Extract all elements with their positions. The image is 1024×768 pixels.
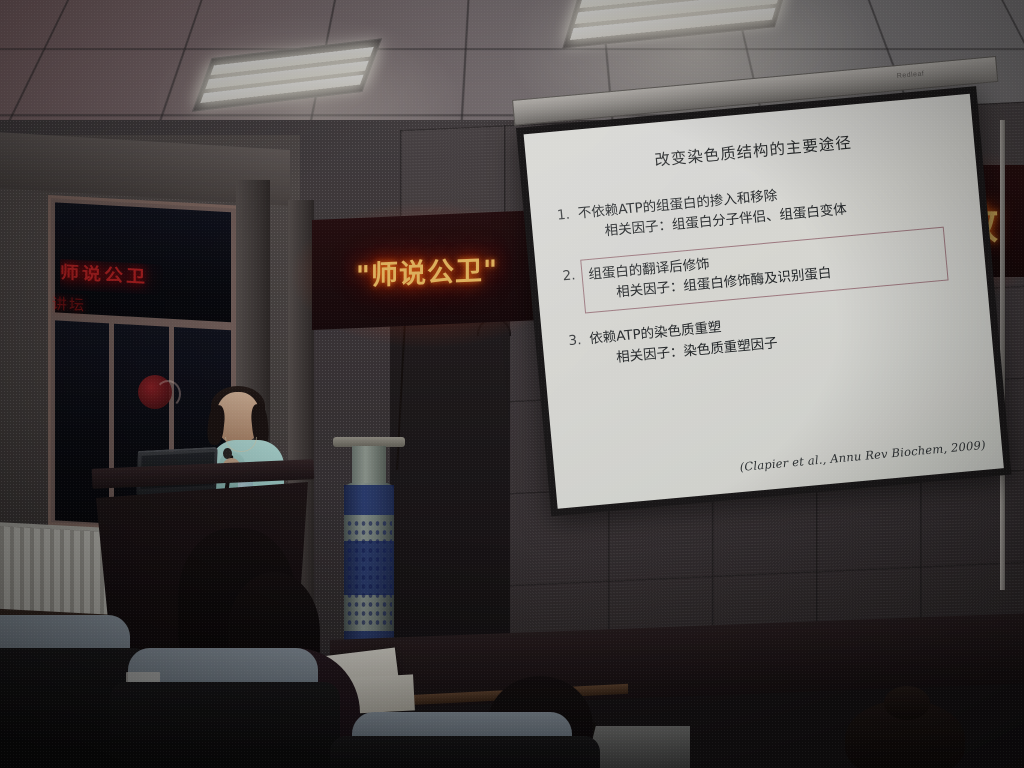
slide-item-2-number: 2.: [561, 260, 576, 284]
vase-neck: [352, 446, 386, 486]
slide-item-1-number: 1.: [556, 205, 571, 226]
radiator: [0, 522, 110, 624]
note-paper: [351, 674, 415, 713]
porcelain-vase: [343, 437, 395, 652]
auditorium-seat-back[interactable]: [330, 736, 600, 768]
lecture-hall-photo: 师说公卫 讲坛 "师说公卫" 教 Redleaf 改变染色质结构的主要途径 1.…: [0, 0, 1024, 768]
slide-citation: (Clapier et al., Annu Rev Biochem, 2009): [739, 438, 986, 474]
led-sign-left: "师说公卫": [312, 210, 542, 330]
auditorium-seat-back[interactable]: [110, 682, 340, 768]
projector-brand-label: Redleaf: [896, 71, 924, 80]
slide-title: 改变染色质结构的主要途径: [552, 121, 954, 179]
vertical-pole: [1000, 120, 1005, 590]
led-sign-left-text: "师说公卫": [356, 247, 498, 292]
window-pane: [55, 320, 109, 523]
vase-body: [344, 483, 394, 653]
audience-hair-bun: [884, 686, 930, 720]
slide-item-3-number: 3.: [568, 330, 583, 351]
projector-screen-frame: 改变染色质结构的主要途径 1. 不依赖ATP的组蛋白的掺入和移除 相关因子：组蛋…: [516, 86, 1011, 516]
doorway-recess: [390, 298, 510, 662]
window-circular-logo: [138, 375, 172, 409]
projected-slide: 改变染色质结构的主要途径 1. 不依赖ATP的组蛋白的掺入和移除 相关因子：组蛋…: [524, 94, 1004, 509]
vase-pattern: [346, 519, 392, 629]
vase-decorative-band: [344, 485, 394, 515]
